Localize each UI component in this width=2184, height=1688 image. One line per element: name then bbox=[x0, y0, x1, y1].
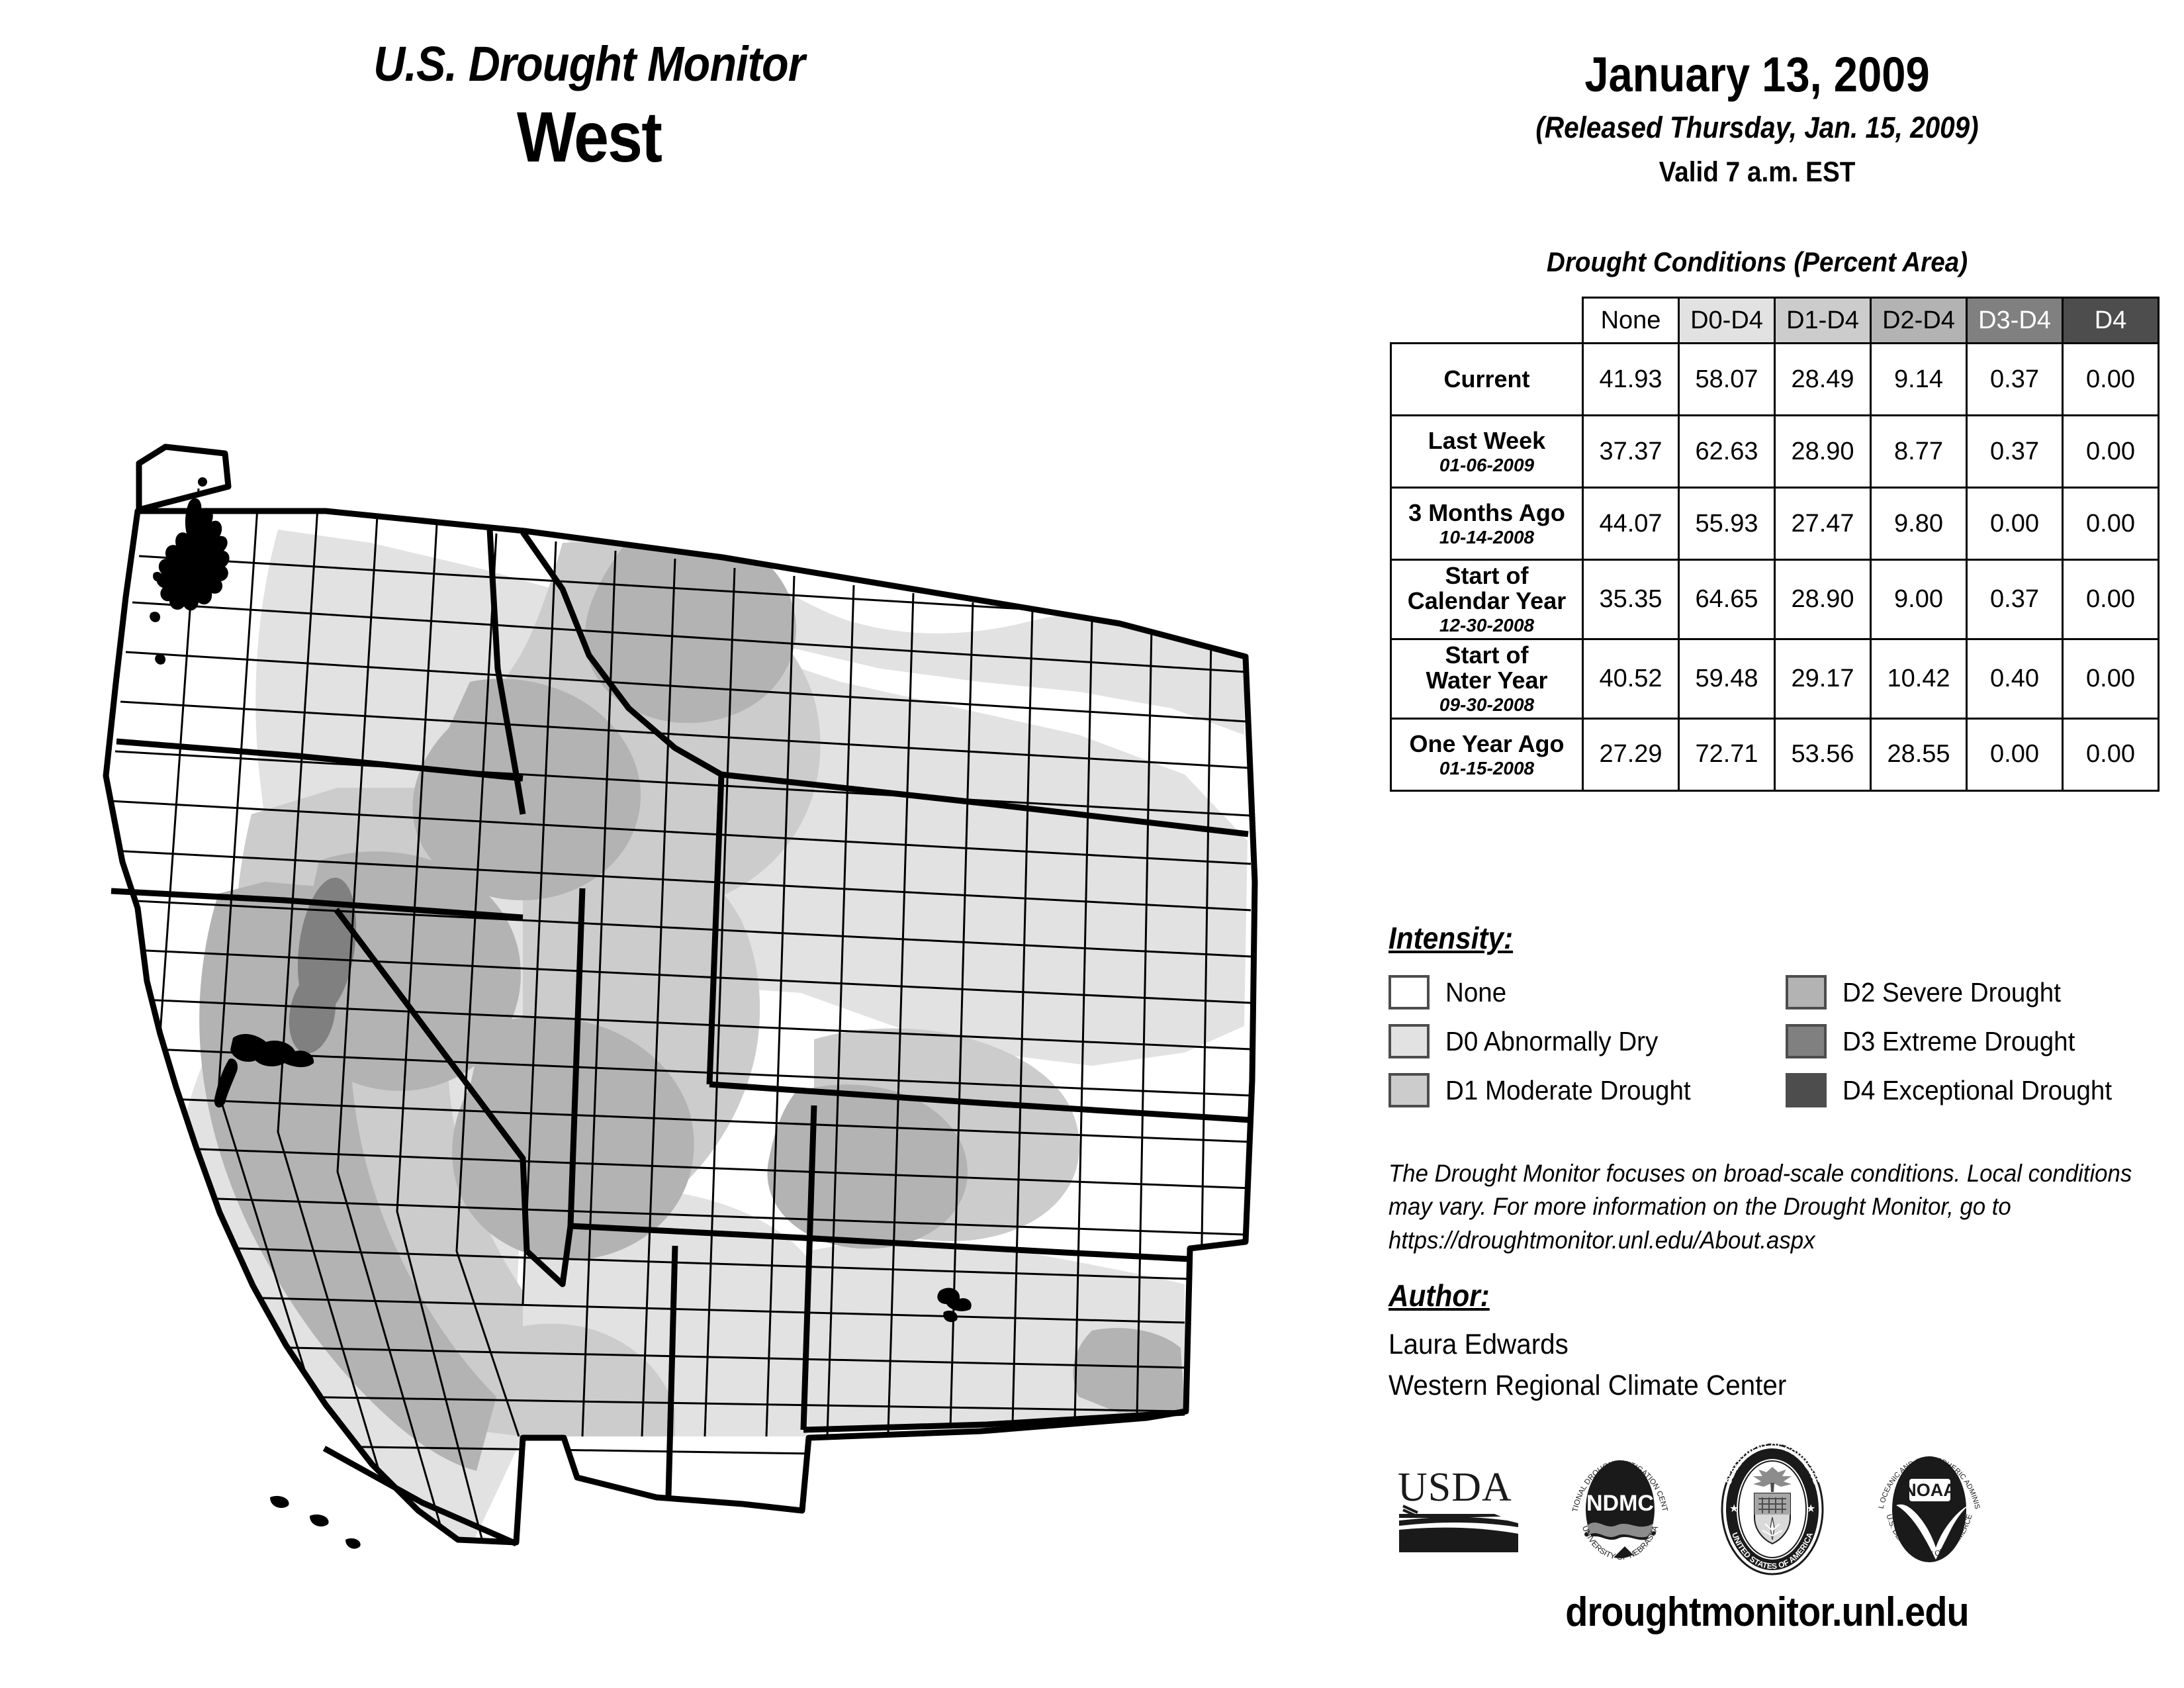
date-block: January 13, 2009 (Released Thursday, Jan… bbox=[1350, 50, 2164, 187]
table-cell: 28.55 bbox=[1871, 718, 1967, 790]
disclaimer-text: The Drought Monitor focuses on broad-sca… bbox=[1388, 1157, 2135, 1257]
table-cell: 53.56 bbox=[1775, 718, 1871, 790]
table-cell: 8.77 bbox=[1871, 416, 1967, 488]
ndmc-logo: NDMC NATIONAL DROUGHT MITIGATION CENTER … bbox=[1564, 1442, 1676, 1577]
row-label-date: 01-06-2009 bbox=[1396, 455, 1578, 475]
legend-swatch bbox=[1786, 1073, 1827, 1107]
legend-item: D3 Extreme Drought bbox=[1786, 1024, 2169, 1058]
table-cell: 72.71 bbox=[1679, 718, 1775, 790]
table-cell: 27.47 bbox=[1775, 488, 1871, 560]
table-cell: 0.00 bbox=[2063, 718, 2159, 790]
table-cell: 64.65 bbox=[1679, 560, 1775, 639]
table-cell: 0.37 bbox=[1967, 344, 2063, 416]
urban-dot-bellingham bbox=[198, 477, 207, 487]
table-cell: 0.00 bbox=[2063, 488, 2159, 560]
table-cell: 28.90 bbox=[1775, 560, 1871, 639]
drought-conditions-table: None D0-D4 D1-D4 D2-D4 D3-D4 D4 Current4… bbox=[1390, 297, 2160, 792]
row-label-date: 09-30-2008 bbox=[1396, 695, 1578, 715]
table-row: Start ofWater Year09-30-200840.5259.4829… bbox=[1391, 639, 2159, 718]
legend-swatch bbox=[1786, 975, 1827, 1009]
table-cell: 0.00 bbox=[2063, 344, 2159, 416]
table-cell: 55.93 bbox=[1679, 488, 1775, 560]
drought-map-svg[interactable] bbox=[60, 311, 1304, 1622]
noaa-logo: NOAA NATIONAL OCEANIC AND ATMOSPHERIC AD… bbox=[1868, 1442, 1991, 1577]
row-label: Last Week01-06-2009 bbox=[1391, 416, 1583, 488]
col-header-d4: D4 bbox=[2063, 298, 2159, 344]
shade-d2-colorado-se bbox=[1073, 1328, 1185, 1413]
title-block: U.S. Drought Monitor West bbox=[0, 40, 1178, 175]
table-cell: 0.37 bbox=[1967, 560, 2063, 639]
table-header: None D0-D4 D1-D4 D2-D4 D3-D4 D4 bbox=[1391, 298, 2159, 344]
row-label: Current bbox=[1391, 344, 1583, 416]
row-label: 3 Months Ago10-14-2008 bbox=[1391, 488, 1583, 560]
report-date: January 13, 2009 bbox=[1399, 50, 2115, 99]
legend-label: D2 Severe Drought bbox=[1843, 977, 2061, 1008]
legend-label: D4 Exceptional Drought bbox=[1843, 1075, 2112, 1106]
svg-text:NDMC: NDMC bbox=[1586, 1491, 1654, 1516]
table-cell: 9.80 bbox=[1871, 488, 1967, 560]
table-row: Last Week01-06-200937.3762.6328.908.770.… bbox=[1391, 416, 2159, 488]
info-panel: January 13, 2009 (Released Thursday, Jan… bbox=[1350, 0, 2184, 1688]
legend-swatch bbox=[1786, 1024, 1827, 1058]
page-title-region: West bbox=[71, 99, 1107, 175]
release-date: (Released Thursday, Jan. 15, 2009) bbox=[1391, 113, 2124, 142]
table-cell: 58.07 bbox=[1679, 344, 1775, 416]
table-cell: 44.07 bbox=[1583, 488, 1679, 560]
table-body: Current41.9358.0728.499.140.370.00Last W… bbox=[1391, 344, 2159, 791]
table-corner-cell bbox=[1391, 298, 1583, 344]
svg-text:NOAA: NOAA bbox=[1903, 1480, 1956, 1500]
author-block: Laura Edwards Western Regional Climate C… bbox=[1388, 1324, 1786, 1407]
usda-logo: USDA bbox=[1395, 1460, 1531, 1559]
author-name: Laura Edwards bbox=[1388, 1324, 1786, 1365]
doc-seal-logo: ★ ★ DEPARTMENT OF COMMERCE UNITED STATES… bbox=[1709, 1443, 1835, 1575]
table-cell: 41.93 bbox=[1583, 344, 1679, 416]
row-label: Start ofWater Year09-30-2008 bbox=[1391, 639, 1583, 718]
table-cell: 0.00 bbox=[2063, 416, 2159, 488]
legend-title: Intensity: bbox=[1388, 920, 1513, 956]
legend-swatch bbox=[1388, 1024, 1430, 1058]
table-cell: 40.52 bbox=[1583, 639, 1679, 718]
table-cell: 9.00 bbox=[1871, 560, 1967, 639]
page-title: U.S. Drought Monitor bbox=[59, 40, 1119, 89]
legend-item: None bbox=[1388, 975, 1786, 1009]
map-panel: U.S. Drought Monitor West bbox=[0, 0, 1350, 1688]
table-cell: 29.17 bbox=[1775, 639, 1871, 718]
legend-grid: NoneD2 Severe DroughtD0 Abnormally DryD3… bbox=[1388, 968, 2169, 1115]
legend-item: D2 Severe Drought bbox=[1786, 975, 2169, 1009]
table-row: Current41.9358.0728.499.140.370.00 bbox=[1391, 344, 2159, 416]
legend-item: D0 Abnormally Dry bbox=[1388, 1024, 1786, 1058]
table-row: 3 Months Ago10-14-200844.0755.9327.479.8… bbox=[1391, 488, 2159, 560]
row-label: One Year Ago01-15-2008 bbox=[1391, 718, 1583, 790]
table-cell: 0.00 bbox=[2063, 639, 2159, 718]
svg-text:USDA: USDA bbox=[1398, 1465, 1512, 1510]
table-cell: 9.14 bbox=[1871, 344, 1967, 416]
legend-item: D1 Moderate Drought bbox=[1388, 1073, 1786, 1107]
col-header-d0-d4: D0-D4 bbox=[1679, 298, 1775, 344]
table-cell: 28.49 bbox=[1775, 344, 1871, 416]
table-cell: 0.37 bbox=[1967, 416, 2063, 488]
legend-label: D1 Moderate Drought bbox=[1445, 1075, 1691, 1106]
col-header-none: None bbox=[1583, 298, 1679, 344]
table-cell: 0.00 bbox=[1967, 488, 2063, 560]
valid-time: Valid 7 a.m. EST bbox=[1391, 158, 2124, 187]
table-cell: 35.35 bbox=[1583, 560, 1679, 639]
legend-label: D0 Abnormally Dry bbox=[1445, 1026, 1658, 1057]
table-cell: 10.42 bbox=[1871, 639, 1967, 718]
table-row: One Year Ago01-15-200827.2972.7153.5628.… bbox=[1391, 718, 2159, 790]
col-header-d3-d4: D3-D4 bbox=[1967, 298, 2063, 344]
col-header-d2-d4: D2-D4 bbox=[1871, 298, 1967, 344]
table-cell: 62.63 bbox=[1679, 416, 1775, 488]
legend-label: D3 Extreme Drought bbox=[1843, 1026, 2075, 1057]
svg-text:★: ★ bbox=[1806, 1503, 1815, 1515]
table-cell: 59.48 bbox=[1679, 639, 1775, 718]
svg-text:★: ★ bbox=[1729, 1503, 1739, 1515]
author-title: Author: bbox=[1388, 1278, 1490, 1313]
table-cell: 28.90 bbox=[1775, 416, 1871, 488]
table-cell: 0.00 bbox=[1967, 718, 2063, 790]
table-cell: 0.40 bbox=[1967, 639, 2063, 718]
legend-item: D4 Exceptional Drought bbox=[1786, 1073, 2169, 1107]
table-caption: Drought Conditions (Percent Area) bbox=[1383, 246, 2132, 278]
col-header-d1-d4: D1-D4 bbox=[1775, 298, 1871, 344]
logo-row: USDA NDMC NATIONAL DROUGHT MITIGATION CE… bbox=[1395, 1436, 2176, 1582]
table-row: Start ofCalendar Year12-30-200835.3564.6… bbox=[1391, 560, 2159, 639]
footer-url[interactable]: droughtmonitor.unl.edu bbox=[1392, 1589, 2142, 1636]
row-label: Start ofCalendar Year12-30-2008 bbox=[1391, 560, 1583, 639]
table-cell: 27.29 bbox=[1583, 718, 1679, 790]
legend-label: None bbox=[1445, 977, 1506, 1008]
table-cell: 37.37 bbox=[1583, 416, 1679, 488]
drought-map[interactable] bbox=[60, 311, 1304, 1622]
legend-swatch bbox=[1388, 1073, 1430, 1107]
legend-swatch bbox=[1388, 975, 1430, 1009]
author-affiliation: Western Regional Climate Center bbox=[1388, 1365, 1786, 1406]
table-cell: 0.00 bbox=[2063, 560, 2159, 639]
row-label-date: 12-30-2008 bbox=[1396, 616, 1578, 635]
row-label-date: 10-14-2008 bbox=[1396, 528, 1578, 547]
row-label-date: 01-15-2008 bbox=[1396, 759, 1578, 778]
